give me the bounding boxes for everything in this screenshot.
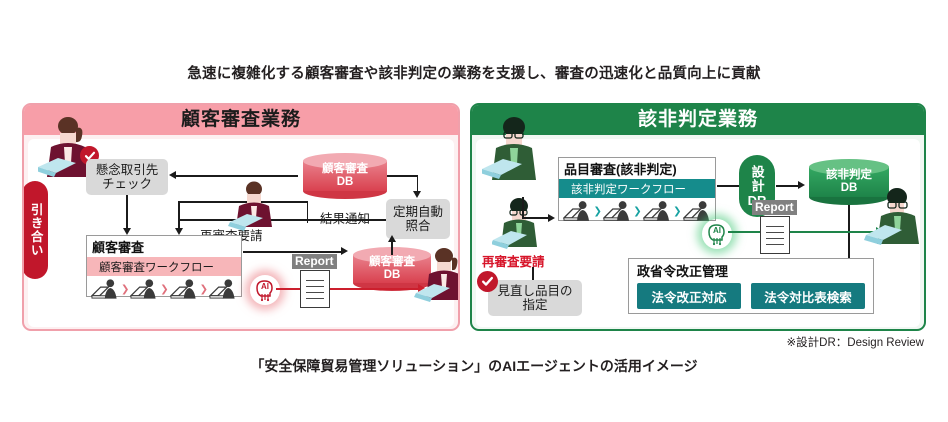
report-label-right: Report bbox=[752, 200, 797, 215]
law-revision-response-button[interactable]: 法令改正対応 bbox=[637, 283, 741, 309]
check-badge-right bbox=[477, 271, 498, 292]
workflow-band-right: 該非判定ワークフロー bbox=[559, 179, 715, 198]
regulation-button-group: 法令改正対応 法令対比表検索 bbox=[629, 283, 873, 309]
svg-text:AI: AI bbox=[261, 282, 269, 291]
arrowhead-check-to-workflow bbox=[123, 228, 131, 235]
design-dr-vertical: 設計 bbox=[750, 165, 763, 193]
connector-card-to-dr bbox=[717, 185, 739, 187]
connector-rereview-right bbox=[532, 267, 534, 281]
page-title: 急速に複雑化する顧客審査や該非判定の業務を支援し、審査の迅速化と品質向上に貢献 bbox=[0, 62, 948, 83]
workflow-step-icon bbox=[91, 278, 120, 300]
workflow-step-icon bbox=[130, 278, 159, 300]
item-screening-workflow-card: 品目審査(該非判定) 該非判定ワークフロー ❯ ❯ ❯ bbox=[558, 157, 716, 221]
arrowhead-to-check bbox=[169, 171, 176, 179]
arrowhead-to-periodic bbox=[413, 191, 421, 198]
connector-mid-person-v bbox=[522, 197, 524, 219]
connector-check-to-workflow bbox=[126, 195, 128, 229]
arrowhead-rereview bbox=[175, 228, 183, 235]
connector-rereview-v bbox=[178, 201, 180, 229]
ai-head-icon: AI bbox=[704, 221, 730, 247]
db-bottom-line1: 顧客審査 bbox=[369, 256, 415, 269]
periodic-line2: 照合 bbox=[405, 219, 430, 233]
db-top-line1: 顧客審査 bbox=[322, 163, 368, 176]
connector-db-to-check bbox=[176, 175, 298, 177]
revise-line2: 指定 bbox=[522, 298, 547, 312]
connector-mid-person-h bbox=[522, 217, 550, 219]
person-illustration-right-mid bbox=[492, 197, 544, 253]
arrowhead-db-to-periodic bbox=[388, 235, 396, 242]
revise-line1: 見直し品目の bbox=[497, 284, 572, 298]
connector-workflow-to-db bbox=[243, 251, 343, 253]
panel-left-body: 引き合い 懸念取引先 チェック 顧客審査 DB 定期自動 照合 bbox=[28, 139, 454, 327]
panel-customer-screening: 顧客審査業務 引き合い 懸念取引先 チェック bbox=[22, 103, 460, 331]
workflow-step-icon bbox=[563, 200, 592, 222]
inquiry-tag: 引き合い bbox=[22, 181, 48, 279]
ai-agent-icon-left: AI bbox=[250, 275, 280, 305]
concern-check-line2: チェック bbox=[102, 177, 152, 191]
customer-screening-workflow-card: 顧客審査 顧客審査ワークフロー ❯ ❯ ❯ bbox=[86, 235, 242, 297]
workflow-chevron-icon: ❯ bbox=[121, 284, 129, 295]
workflow-step-icon bbox=[683, 200, 712, 222]
revise-item-designation-box: 見直し品目の 指定 bbox=[488, 280, 582, 316]
db-bottom-line2: DB bbox=[384, 269, 401, 282]
result-notification-label: 結果通知 bbox=[320, 208, 370, 227]
connector-db-to-periodic-h bbox=[387, 175, 418, 177]
connector-db-bottom-to-periodic bbox=[391, 241, 393, 255]
workflow-card-title-left: 顧客審査 bbox=[87, 236, 241, 257]
connector-db-to-periodic-v bbox=[417, 175, 419, 191]
law-comparison-search-button[interactable]: 法令対比表検索 bbox=[751, 283, 865, 309]
workflow-chevron-icon: ❯ bbox=[200, 284, 208, 295]
connector-result-notice bbox=[178, 219, 386, 221]
classification-db-line1: 該非判定 bbox=[826, 169, 872, 182]
regulation-card-title: 政省令改正管理 bbox=[629, 259, 873, 283]
workflow-band-left: 顧客審査ワークフロー bbox=[87, 257, 241, 276]
re-review-request-label-right: 再審査要請 bbox=[482, 251, 545, 270]
arrowhead-dr-to-db bbox=[798, 181, 805, 189]
ai-agent-icon-right: AI bbox=[702, 219, 732, 249]
report-document-icon-left bbox=[300, 270, 330, 308]
workflow-steps-left: ❯ ❯ ❯ bbox=[87, 276, 241, 302]
person-illustration-right-right bbox=[864, 187, 920, 253]
periodic-auto-matching-box: 定期自動 照合 bbox=[386, 199, 450, 239]
concern-partner-check-box: 懸念取引先 チェック bbox=[86, 159, 168, 195]
ai-output-line-left bbox=[276, 288, 420, 290]
workflow-chevron-icon: ❯ bbox=[593, 206, 601, 217]
figure-caption: 「安全保障貿易管理ソリューション」のAIエージェントの活用イメージ bbox=[0, 356, 948, 376]
footnote-design-review: ※設計DR：Design Review bbox=[0, 334, 924, 350]
report-label-left: Report bbox=[292, 254, 337, 269]
ai-output-line-right bbox=[728, 231, 878, 233]
report-document-icon-right bbox=[760, 216, 790, 254]
ai-head-icon: AI bbox=[252, 277, 278, 303]
person-illustration-left-mid bbox=[228, 181, 280, 233]
diagram-root: 急速に複雑化する顧客審査や該非判定の業務を支援し、審査の迅速化と品質向上に貢献 … bbox=[0, 0, 948, 422]
workflow-chevron-icon: ❯ bbox=[160, 284, 168, 295]
person-illustration-left-right bbox=[414, 247, 460, 309]
periodic-line1: 定期自動 bbox=[393, 205, 443, 219]
workflow-step-icon bbox=[170, 278, 199, 300]
workflow-step-icon bbox=[603, 200, 632, 222]
concern-check-line1: 懸念取引先 bbox=[96, 163, 159, 177]
panel-classification-judgement: 該非判定業務 bbox=[470, 103, 926, 331]
workflow-step-icon bbox=[209, 278, 238, 300]
workflow-step-icon bbox=[643, 200, 672, 222]
workflow-chevron-icon: ❯ bbox=[633, 206, 641, 217]
person-illustration-right-top bbox=[482, 117, 544, 193]
connector-dr-to-db bbox=[776, 185, 800, 187]
customer-screening-db-top: 顧客審査 DB bbox=[303, 153, 387, 199]
panel-right-body: 品目審査(該非判定) 該非判定ワークフロー ❯ ❯ ❯ 設計 DR bbox=[476, 139, 920, 327]
workflow-chevron-icon: ❯ bbox=[673, 206, 681, 217]
arrowhead-workflow-to-db bbox=[341, 247, 348, 255]
classification-db-line2: DB bbox=[841, 182, 858, 195]
workflow-steps-right: ❯ ❯ ❯ bbox=[559, 198, 715, 224]
workflow-card-title-right: 品目審査(該非判定) bbox=[559, 158, 715, 179]
db-top-line2: DB bbox=[337, 176, 354, 189]
svg-text:AI: AI bbox=[713, 226, 721, 235]
arrowhead-mid-person bbox=[548, 214, 555, 222]
regulation-revision-management-card: 政省令改正管理 法令改正対応 法令対比表検索 bbox=[628, 258, 874, 314]
